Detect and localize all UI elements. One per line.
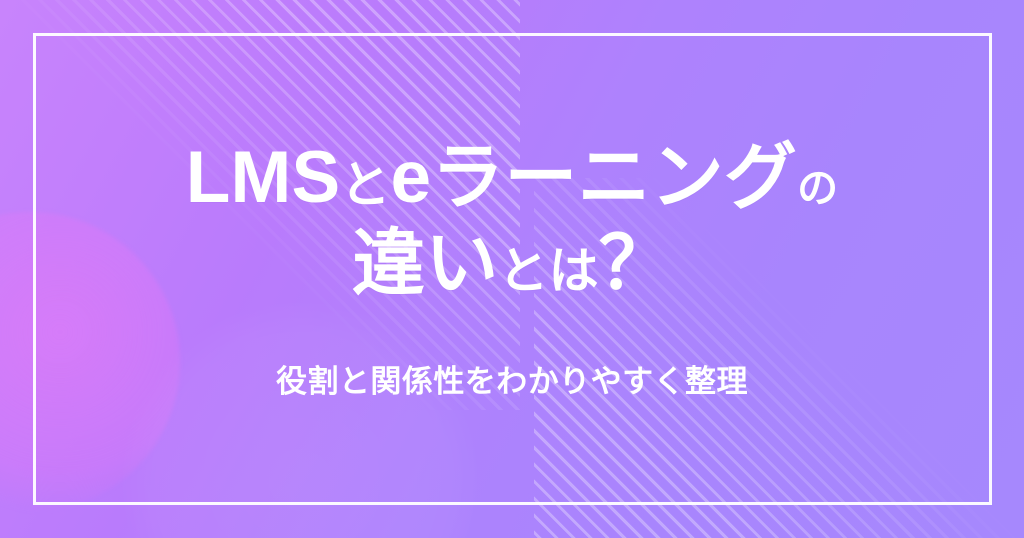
title-segment-e: e (391, 137, 432, 218)
title-segment-elearning: ラーニング (431, 137, 797, 218)
title-line-2: 違いとは？ (186, 221, 839, 306)
title-line-1: LMSとeラーニングの (186, 135, 839, 220)
title-segment-chigai: 違い (352, 223, 498, 304)
title-segment-no: の (797, 165, 838, 211)
title-segment-question: ？ (599, 223, 672, 304)
page-title: LMSとeラーニングの 違いとは？ (186, 135, 839, 306)
title-segment-toha: とは (498, 243, 598, 299)
page-subtitle: 役割と関係性をわかりやすく整理 (276, 362, 748, 402)
banner-content: LMSとeラーニングの 違いとは？ 役割と関係性をわかりやすく整理 (0, 0, 1024, 538)
banner-card: LMSとeラーニングの 違いとは？ 役割と関係性をわかりやすく整理 (0, 0, 1024, 538)
title-segment-lms: LMS (186, 137, 341, 218)
title-segment-to: と (340, 157, 390, 213)
